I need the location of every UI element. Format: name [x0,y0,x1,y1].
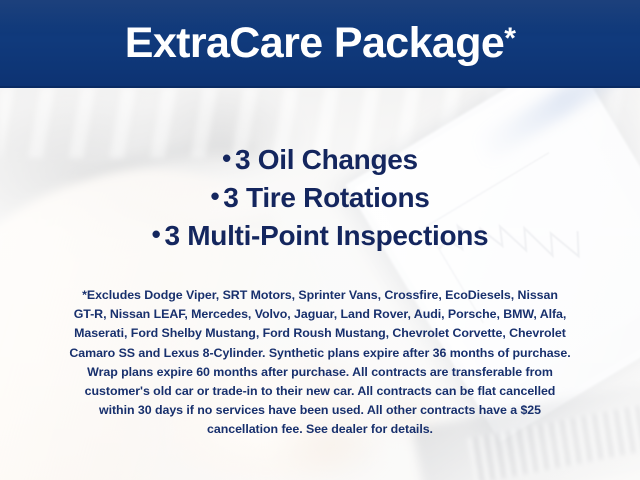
bullet-icon: • [222,143,231,173]
disclaimer-line: cancellation fee. See dealer for details… [26,420,614,439]
disclaimer-line: GT-R, Nissan LEAF, Mercedes, Volvo, Jagu… [26,305,614,324]
page-title: ExtraCare Package* [125,22,516,65]
disclaimer-line: *Excludes Dodge Viper, SRT Motors, Sprin… [26,286,614,305]
disclaimer-line: Camaro SS and Lexus 8-Cylinder. Syntheti… [26,344,614,363]
disclaimer-line: Maserati, Ford Shelby Mustang, Ford Rous… [26,324,614,343]
page-title-text: ExtraCare Package [125,19,504,67]
benefits-list: •3 Oil Changes •3 Tire Rotations •3 Mult… [0,141,640,255]
disclaimer-line: customer's old car or trade-in to their … [26,382,614,401]
benefit-label: 3 Multi-Point Inspections [164,220,488,251]
benefit-label: 3 Tire Rotations [223,182,429,213]
list-item: •3 Tire Rotations [0,179,640,217]
disclaimer-line: Wrap plans expire 60 months after purcha… [26,363,614,382]
page-title-asterisk: * [504,22,515,55]
list-item: •3 Oil Changes [0,141,640,179]
disclaimer-line: within 30 days if no services have been … [26,401,614,420]
list-item: •3 Multi-Point Inspections [0,217,640,255]
benefit-label: 3 Oil Changes [235,144,418,175]
bullet-icon: • [152,219,161,249]
bullet-icon: • [210,181,219,211]
extracare-package-promo-card: ExtraCare Package* •3 Oil Changes •3 Tir… [0,0,640,480]
title-banner: ExtraCare Package* [0,0,640,88]
disclaimer-text: *Excludes Dodge Viper, SRT Motors, Sprin… [26,286,614,440]
